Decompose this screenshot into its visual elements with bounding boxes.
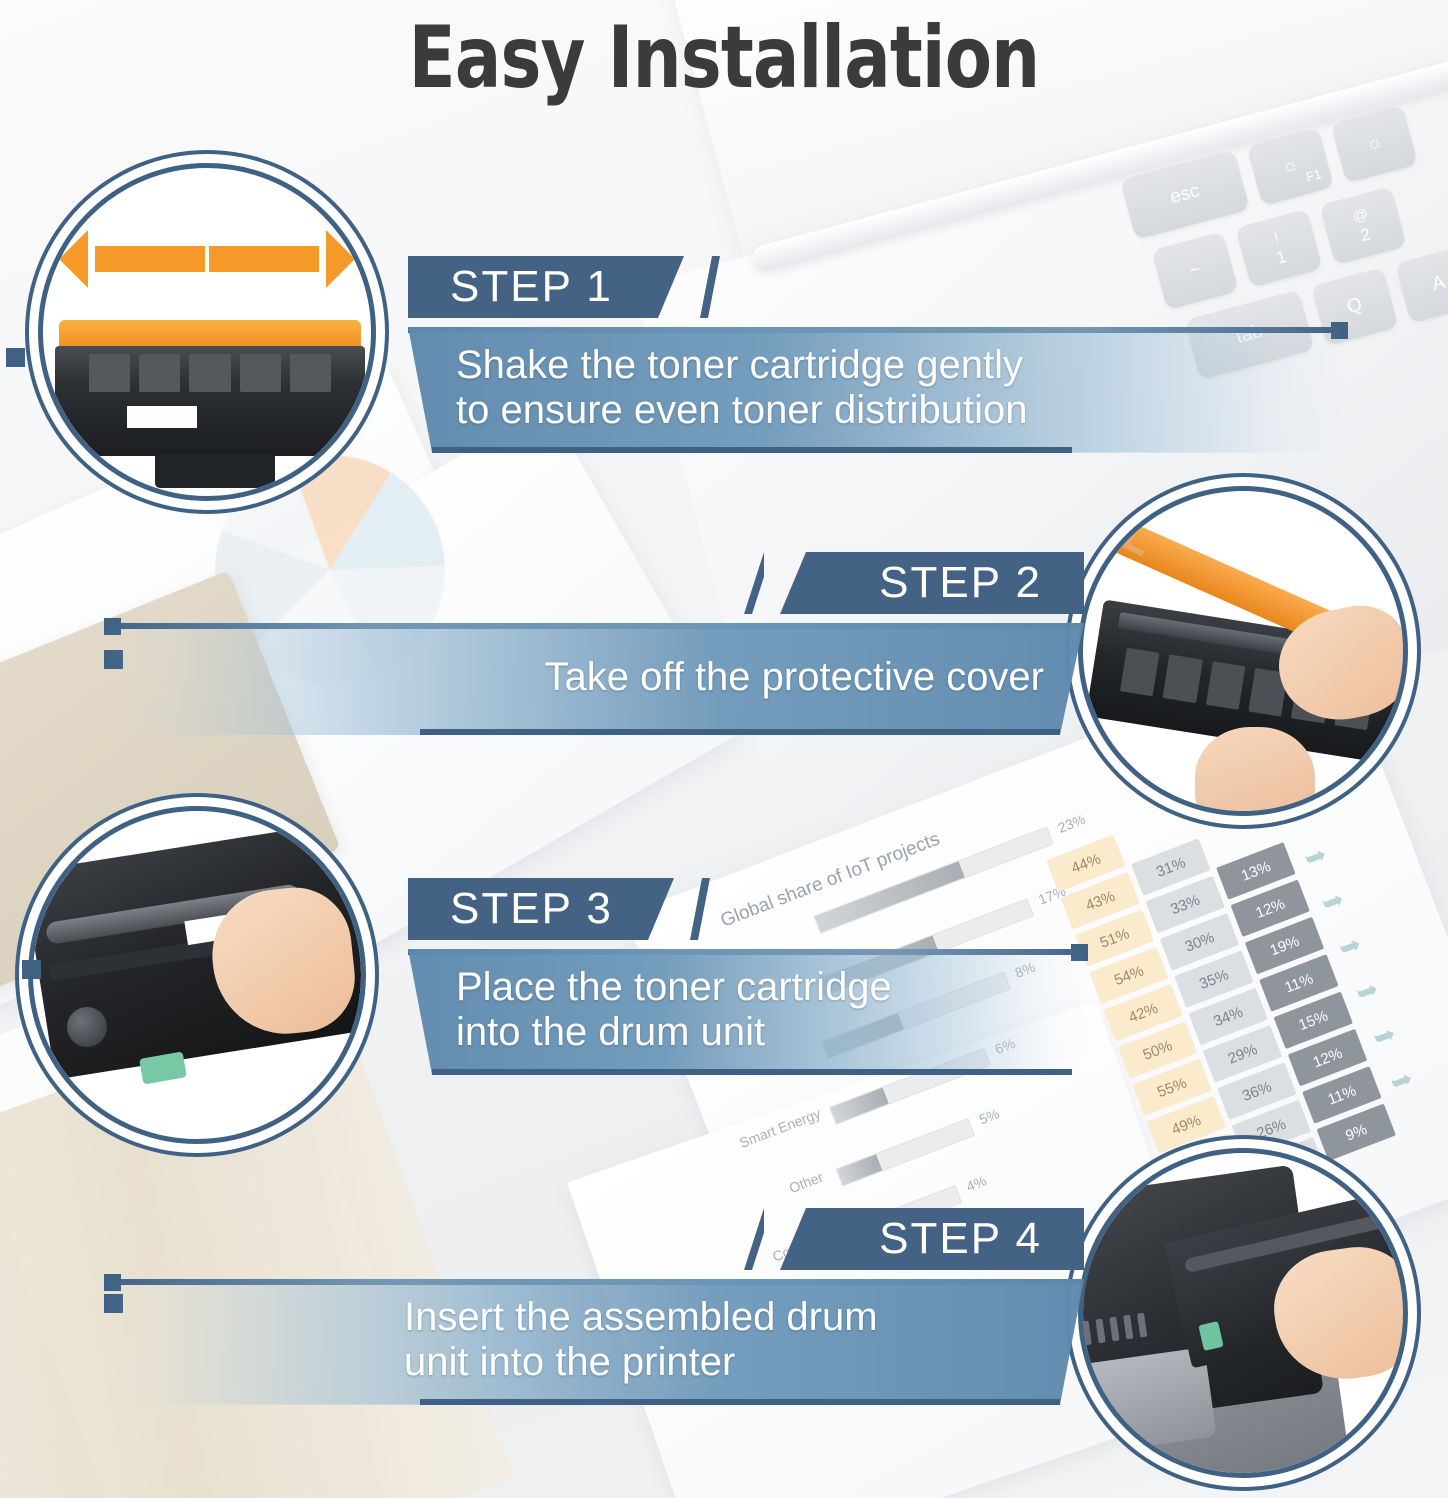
step-2-banner: STEP 2 xyxy=(736,552,1084,614)
banner-slash xyxy=(700,256,720,318)
step-3-banner: STEP 3 xyxy=(408,878,718,940)
step-4-banner: STEP 4 xyxy=(736,1208,1084,1270)
step-1-body: Shake the toner cartridge gently to ensu… xyxy=(408,327,1348,453)
printer-vents xyxy=(1083,1313,1147,1346)
arrow-right-icon xyxy=(209,246,319,272)
step-1-banner: STEP 1 xyxy=(408,256,728,318)
step-1-label: STEP 1 xyxy=(450,262,613,312)
banner-slash xyxy=(744,552,764,614)
step-1-block: STEP 1 Shake the toner cartridge gently … xyxy=(408,256,1348,453)
poster-canvas: esc ☼ F1 ☼ ~ ! 1 @ 2 tab xyxy=(0,0,1448,1498)
body-bottom-rule xyxy=(420,1399,1060,1405)
step-2-body: Take off the protective cover xyxy=(104,623,1084,735)
brightness-icon: ☼ xyxy=(1363,131,1386,157)
body-bottom-rule xyxy=(432,1069,1072,1075)
connector-nub xyxy=(6,348,25,367)
step-3-text: Place the toner cartridge into the drum … xyxy=(456,965,892,1055)
step-3-block: STEP 3 Place the toner cartridge into th… xyxy=(408,878,1088,1075)
step-2-label: STEP 2 xyxy=(879,558,1042,608)
iot-bar-value: 5% xyxy=(977,1105,1002,1127)
brightness-icon: ☼ xyxy=(1279,154,1302,180)
step-1-photo xyxy=(38,163,376,501)
hand xyxy=(1195,727,1315,811)
step-2-photo xyxy=(1078,486,1408,816)
step-4-body: Insert the assembled drum unit into the … xyxy=(104,1279,1084,1405)
cartridge-label xyxy=(127,406,197,428)
step-3-panel: Place the toner cartridge into the drum … xyxy=(408,949,1088,1075)
step-2-text: Take off the protective cover xyxy=(544,655,1044,700)
step-2-block: STEP 2 Take off the protective cover xyxy=(104,552,1084,735)
step-4-text: Insert the assembled drum unit into the … xyxy=(404,1295,878,1385)
step-2-panel: Take off the protective cover xyxy=(104,623,1084,735)
step-1-panel: Shake the toner cartridge gently to ensu… xyxy=(408,327,1348,453)
connector-nub xyxy=(22,960,41,979)
step-4-block: STEP 4 Insert the assembled drum unit in… xyxy=(104,1208,1084,1405)
iot-bar xyxy=(836,1118,975,1187)
step-3-body: Place the toner cartridge into the drum … xyxy=(408,949,1088,1075)
step-1-text: Shake the toner cartridge gently to ensu… xyxy=(456,343,1027,433)
cartridge-orange-top xyxy=(59,320,361,348)
banner-slash xyxy=(690,878,710,940)
banner-slash xyxy=(744,1208,764,1270)
cartridge-ribs xyxy=(89,354,331,392)
cartridge-handle xyxy=(155,454,275,488)
iot-bar-value: 23% xyxy=(1056,811,1088,836)
arrow-left-icon xyxy=(95,246,205,272)
cartridge-body xyxy=(55,346,365,456)
iot-bar-value: 4% xyxy=(964,1172,989,1194)
step-3-photo xyxy=(28,806,366,1144)
drum-roller xyxy=(67,1007,107,1047)
step-3-label: STEP 3 xyxy=(450,884,613,934)
page-title: Easy Installation xyxy=(145,8,1303,108)
body-bottom-rule xyxy=(432,447,1072,453)
step-4-photo xyxy=(1078,1148,1408,1478)
step-4-panel: Insert the assembled drum unit into the … xyxy=(104,1279,1084,1405)
step-4-label: STEP 4 xyxy=(879,1214,1042,1264)
body-bottom-rule xyxy=(420,729,1060,735)
